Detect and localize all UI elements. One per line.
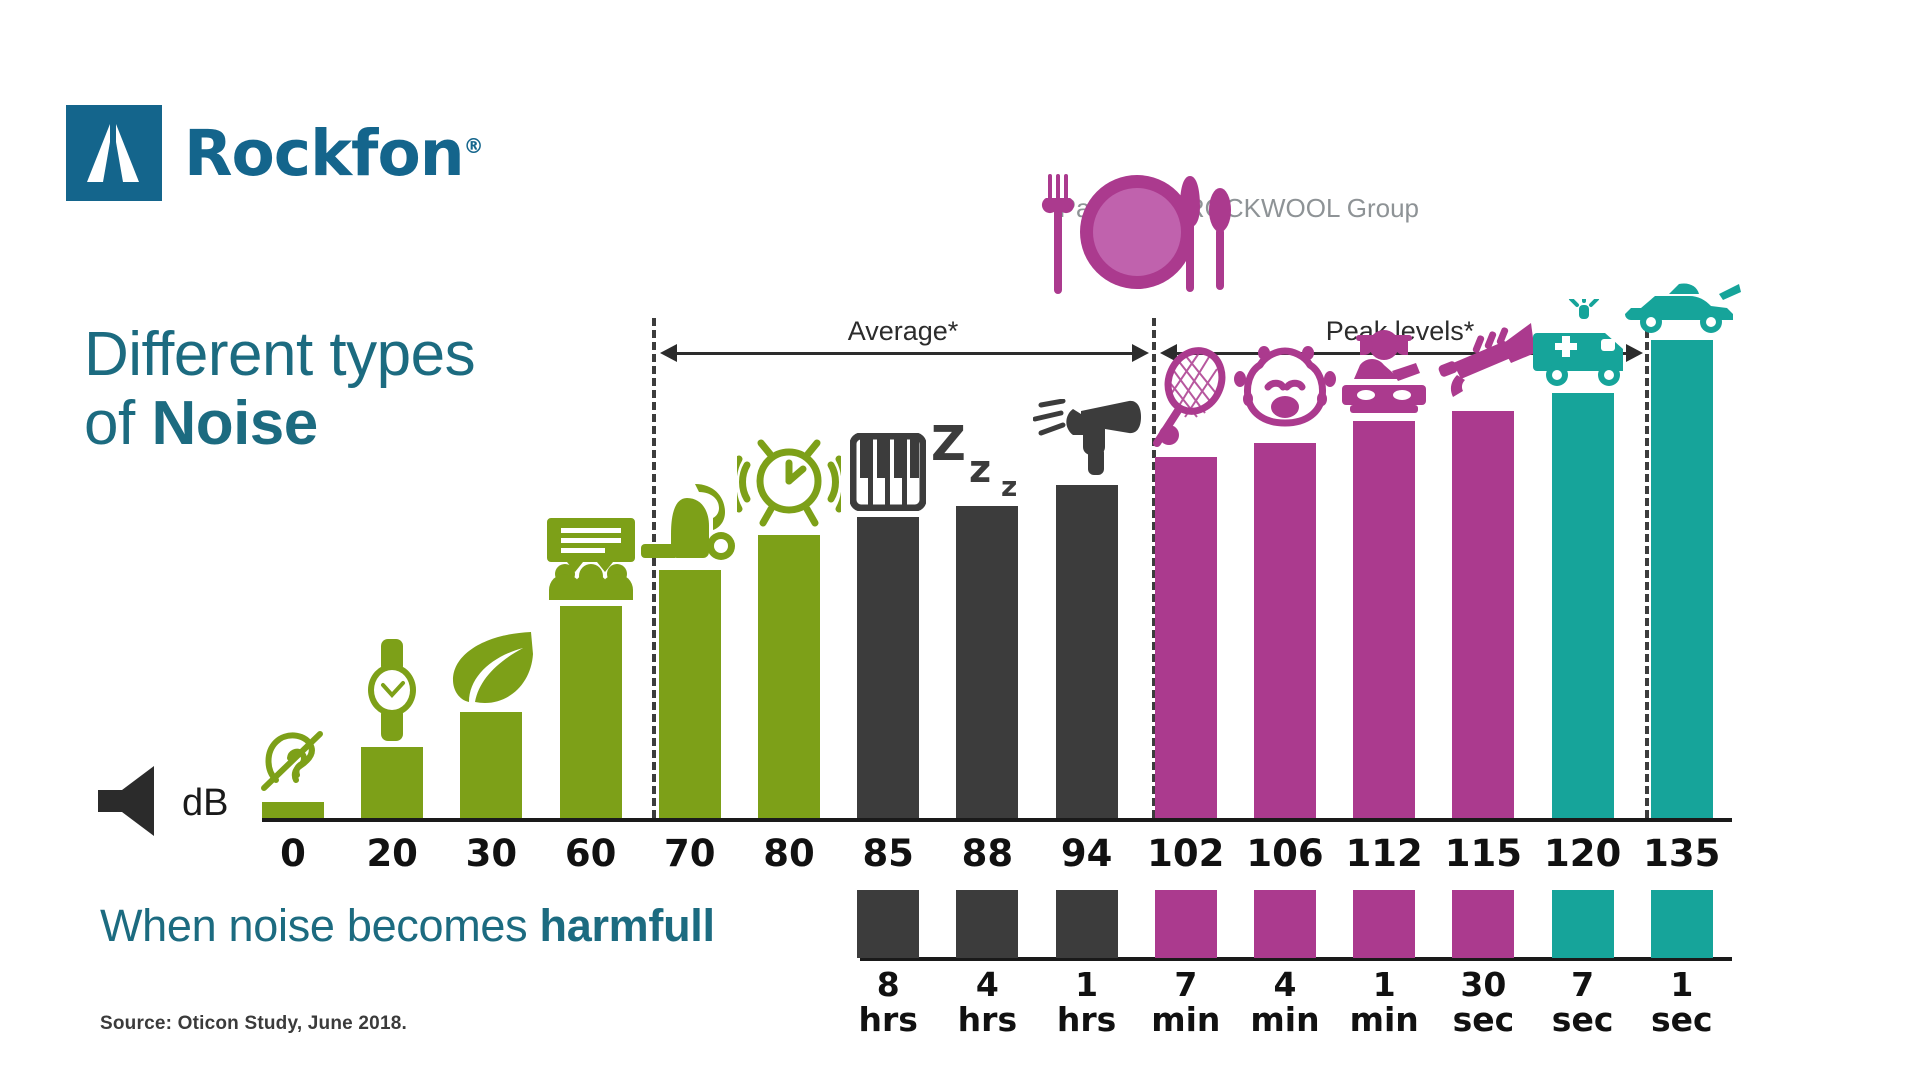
- leaf-icon: [445, 628, 537, 712]
- axis-label-102db: 102: [1136, 832, 1236, 875]
- bar-0db: [262, 802, 324, 818]
- brand-wordmark: Rockfon®: [184, 117, 483, 190]
- duration-unit: hrs: [833, 1003, 943, 1038]
- duration-bar-112db: [1353, 890, 1415, 958]
- duration-unit: sec: [1627, 1003, 1737, 1038]
- duration-bar-85db: [857, 890, 919, 958]
- bar-88db: [956, 506, 1018, 818]
- axis-label-70db: 70: [640, 832, 740, 875]
- axis-label-94db: 94: [1037, 832, 1137, 875]
- duration-label-88db: 4hrs: [932, 968, 1042, 1038]
- axis-label-20db: 20: [342, 832, 442, 875]
- duration-number: 30: [1428, 968, 1538, 1003]
- duration-label-135db: 1sec: [1627, 968, 1737, 1038]
- db-label: dB: [182, 782, 228, 825]
- axis-label-0db: 0: [243, 832, 343, 875]
- harmful-emphasis: harmfull: [540, 900, 715, 951]
- deaf-ear-icon: [254, 718, 332, 802]
- duration-unit: min: [1131, 1003, 1241, 1038]
- bar-85db: [857, 517, 919, 818]
- axis-label-30db: 30: [441, 832, 541, 875]
- bar-80db: [758, 535, 820, 818]
- alarm-clock-icon: [737, 435, 841, 535]
- bar-70db: [659, 570, 721, 818]
- duration-unit: sec: [1528, 1003, 1638, 1038]
- speaker-icon: [92, 760, 174, 847]
- duration-bar-106db: [1254, 890, 1316, 958]
- bar-120db: [1552, 393, 1614, 818]
- headline-prefix: of: [84, 389, 151, 458]
- bar-135db: [1651, 340, 1713, 818]
- duration-number: 4: [1230, 968, 1340, 1003]
- duration-number: 7: [1528, 968, 1638, 1003]
- duration-number: 1: [1032, 968, 1142, 1003]
- bar-94db: [1056, 485, 1118, 818]
- wristwatch-icon: [357, 639, 427, 747]
- duration-number: 8: [833, 968, 943, 1003]
- bar-102db: [1155, 457, 1217, 818]
- registered-trademark: ®: [464, 134, 483, 158]
- duration-unit: min: [1230, 1003, 1340, 1038]
- axis-label-88db: 88: [937, 832, 1037, 875]
- duration-unit: min: [1329, 1003, 1439, 1038]
- axis-label-80db: 80: [739, 832, 839, 875]
- duration-bar-102db: [1155, 890, 1217, 958]
- ambulance-icon: [1531, 299, 1635, 393]
- duration-number: 1: [1329, 968, 1439, 1003]
- crying-baby-icon: [1230, 345, 1340, 443]
- duration-label-94db: 1hrs: [1032, 968, 1142, 1038]
- vacuum-cleaner-icon: [641, 476, 739, 570]
- duration-unit: sec: [1428, 1003, 1538, 1038]
- axis-label-60db: 60: [541, 832, 641, 875]
- duration-label-115db: 30sec: [1428, 968, 1538, 1038]
- chart-baseline: [262, 818, 1732, 822]
- tennis-racket-icon: [1143, 347, 1229, 457]
- duration-bar-115db: [1452, 890, 1514, 958]
- svg-text:z: z: [969, 447, 991, 491]
- duration-label-106db: 4min: [1230, 968, 1340, 1038]
- bar-112db: [1353, 421, 1415, 818]
- trumpet-icon: [1431, 319, 1535, 411]
- duration-bar-135db: [1651, 890, 1713, 958]
- snoring-zzz-icon: Zzz: [931, 416, 1043, 506]
- dj-turntable-icon: [1334, 327, 1434, 421]
- svg-text:Z: Z: [931, 416, 966, 472]
- bar-106db: [1254, 443, 1316, 818]
- duration-unit: hrs: [932, 1003, 1042, 1038]
- bar-115db: [1452, 411, 1514, 818]
- axis-label-85db: 85: [838, 832, 938, 875]
- brand-logo: Rockfon®: [66, 105, 483, 201]
- harmful-prefix: When noise becomes: [100, 900, 540, 951]
- duration-bar-88db: [956, 890, 1018, 958]
- bar-30db: [460, 712, 522, 818]
- brand-name: Rockfon: [184, 117, 464, 190]
- duration-bar-120db: [1552, 890, 1614, 958]
- bar-20db: [361, 747, 423, 818]
- duration-label-102db: 7min: [1131, 968, 1241, 1038]
- axis-label-120db: 120: [1533, 832, 1633, 875]
- bar-60db: [560, 606, 622, 818]
- duration-unit: hrs: [1032, 1003, 1142, 1038]
- conversation-icon: [547, 516, 635, 606]
- plate-cutlery-icon: [1040, 170, 1235, 300]
- duration-number: 4: [932, 968, 1042, 1003]
- source-note: Source: Oticon Study, June 2018.: [100, 1013, 407, 1035]
- duration-label-112db: 1min: [1329, 968, 1439, 1038]
- db-legend: dB: [92, 760, 228, 847]
- hair-dryer-icon: [1033, 399, 1141, 485]
- harmful-caption: When noise becomes harmfull: [100, 900, 715, 952]
- duration-bar-94db: [1056, 890, 1118, 958]
- duration-number: 1: [1627, 968, 1737, 1003]
- axis-label-115db: 115: [1433, 832, 1533, 875]
- race-car-icon: [1623, 272, 1741, 340]
- svg-text:z: z: [1001, 470, 1017, 500]
- duration-number: 7: [1131, 968, 1241, 1003]
- axis-label-135db: 135: [1632, 832, 1732, 875]
- duration-label-85db: 8hrs: [833, 968, 943, 1038]
- axis-label-106db: 106: [1235, 832, 1335, 875]
- rockfon-mountain-mark-icon: [66, 105, 162, 201]
- axis-label-112db: 112: [1334, 832, 1434, 875]
- duration-label-120db: 7sec: [1528, 968, 1638, 1038]
- piano-icon: [850, 433, 926, 517]
